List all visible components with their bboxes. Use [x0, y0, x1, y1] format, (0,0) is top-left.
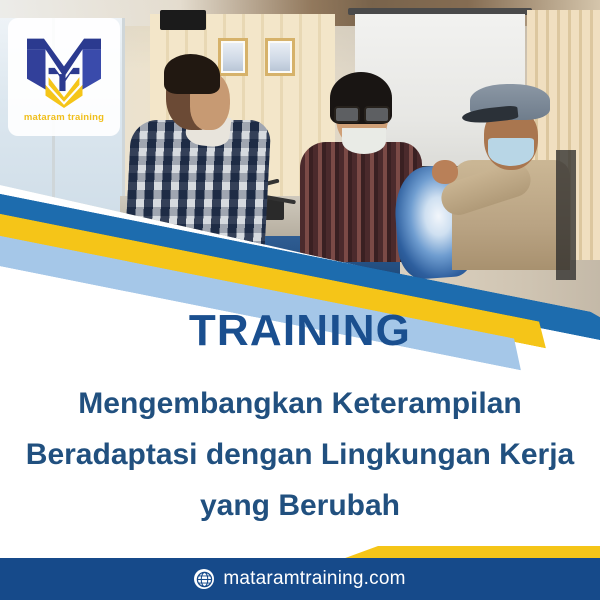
person-cap-mask — [488, 138, 534, 166]
wall-photo-frame — [218, 38, 248, 76]
subtitle-line-3: yang Berubah — [0, 480, 600, 531]
subtitle-line-1: Mengembangkan Keterampilan — [0, 378, 600, 429]
mataram-m-logo-icon — [25, 34, 103, 108]
globe-icon — [194, 569, 214, 589]
wall-monitor — [160, 10, 206, 30]
chin-face-mask — [342, 128, 386, 154]
subtitle-block: Mengembangkan Keterampilan Beradaptasi d… — [0, 378, 600, 531]
person-plaid-hair — [164, 54, 220, 94]
right-edge-shadow — [556, 150, 576, 280]
logo-wordmark: mataram training — [24, 112, 104, 123]
person-cap-hand — [432, 160, 458, 184]
eyeglasses — [334, 106, 390, 119]
website-url[interactable]: mataramtraining.com — [223, 568, 405, 590]
subtitle-line-2: Beradaptasi dengan Lingkungan Kerja — [0, 429, 600, 480]
footer-bar: mataramtraining.com — [0, 558, 600, 600]
brand-logo: mataram training — [8, 18, 120, 136]
page-title: TRAINING — [0, 306, 600, 356]
training-poster: mataram training TRAINING Mengembangkan … — [0, 0, 600, 600]
wall-photo-frame — [265, 38, 295, 76]
